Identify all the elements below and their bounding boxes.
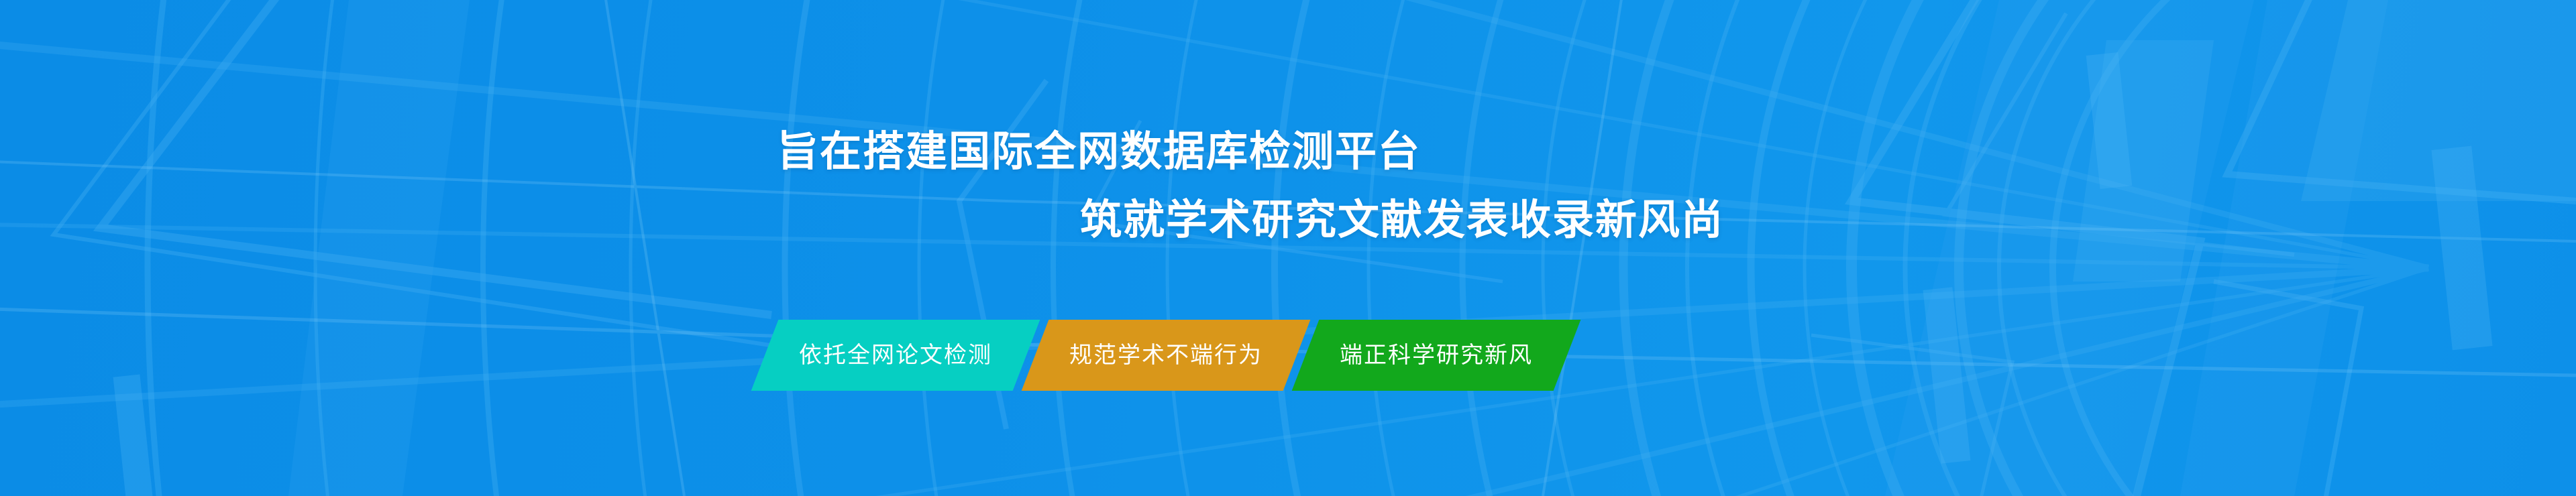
feature-tag-research-integrity[interactable]: 端正科学研究新风	[1292, 320, 1581, 391]
promo-banner: 旨在搭建国际全网数据库检测平台 筑就学术研究文献发表收录新风尚 依托全网论文检测…	[0, 0, 2576, 496]
feature-tag-paper-detection[interactable]: 依托全网论文检测	[751, 320, 1040, 391]
feature-tag-label: 依托全网论文检测	[799, 344, 992, 367]
background-tech-pattern	[0, 0, 2576, 496]
feature-tag-label: 规范学术不端行为	[1069, 344, 1263, 367]
feature-tag-group: 依托全网论文检测 规范学术不端行为 端正科学研究新风	[765, 320, 1567, 391]
feature-tag-misconduct-regulation[interactable]: 规范学术不端行为	[1022, 320, 1311, 391]
feature-tag-label: 端正科学研究新风	[1340, 344, 1533, 367]
